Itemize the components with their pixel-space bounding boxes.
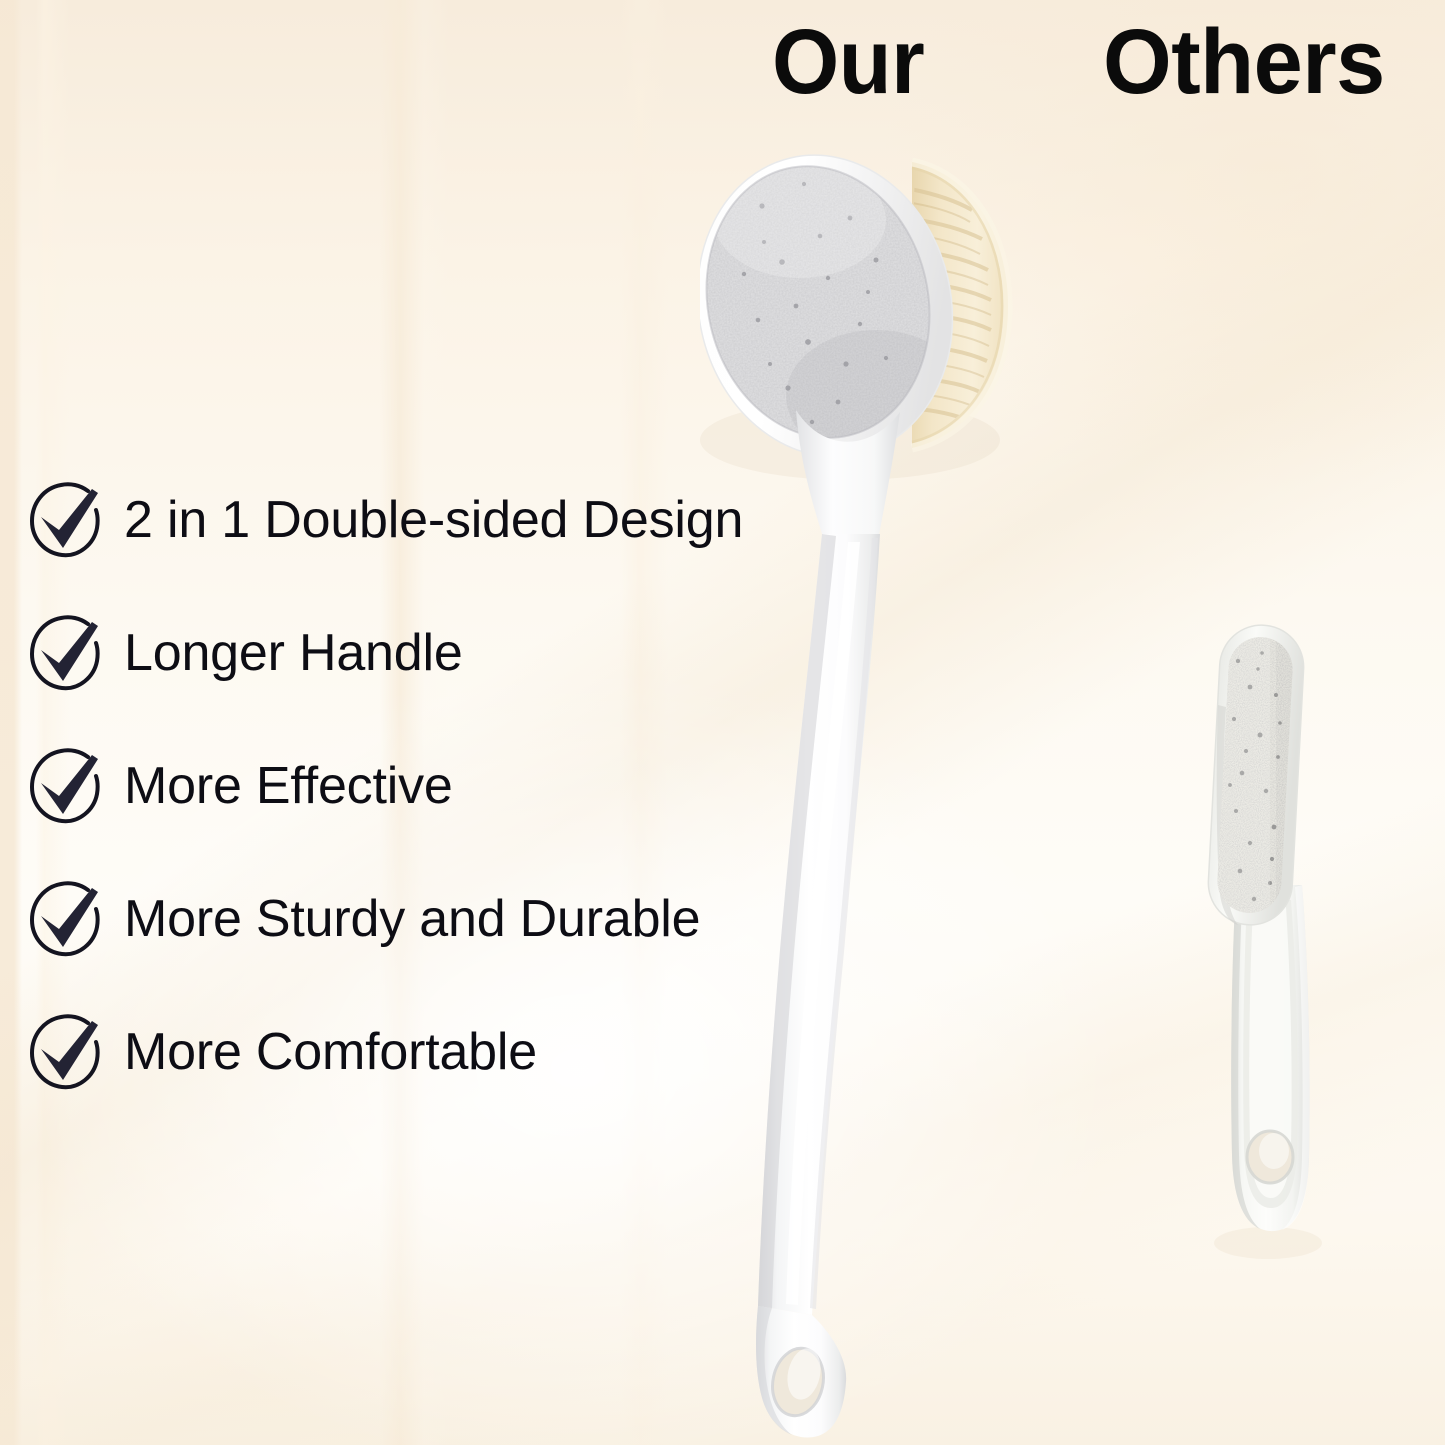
feature-list: 2 in 1 Double-sided Design Longer Handle… [26, 480, 786, 1145]
brush-handle-end [756, 1306, 846, 1438]
feature-label: More Comfortable [124, 1026, 537, 1078]
check-circle-icon [26, 615, 110, 695]
check-circle-icon [26, 881, 110, 961]
check-circle-icon [26, 1014, 110, 1094]
feature-label: 2 in 1 Double-sided Design [124, 494, 743, 546]
feature-label: Longer Handle [124, 627, 463, 679]
feature-item-1: Longer Handle [26, 613, 786, 746]
check-circle-icon [26, 748, 110, 828]
header-others: Others [1103, 16, 1385, 108]
feature-item-4: More Comfortable [26, 1012, 786, 1145]
others-handle [1231, 885, 1309, 1231]
feature-item-2: More Effective [26, 746, 786, 879]
feature-label: More Sturdy and Durable [124, 893, 700, 945]
check-circle-icon [26, 482, 110, 562]
others-product-image [1190, 595, 1360, 1275]
header-our: Our [772, 16, 924, 108]
product-comparison-image: Our Others [0, 0, 1445, 1445]
feature-item-3: More Sturdy and Durable [26, 879, 786, 1012]
feature-item-0: 2 in 1 Double-sided Design [26, 480, 786, 613]
feature-label: More Effective [124, 760, 453, 812]
